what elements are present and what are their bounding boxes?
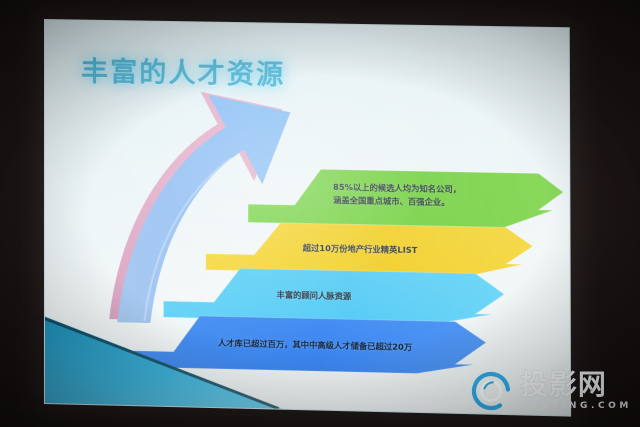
slide-canvas: 丰富的人才资源 [44, 19, 571, 417]
band-yellow-label: 超过10万份地产行业精英LIST [303, 242, 418, 256]
band-yellow-line-1: 超过10万份地产行业精英LIST [303, 242, 418, 256]
corner-accent-triangle [45, 307, 297, 409]
band-green-label: 85%以上的候选人均为知名公司， 涵盖全国重点城市、百强企业。 [333, 181, 461, 210]
band-lightblue-line-1: 丰富的顾问人脉资源 [276, 288, 351, 302]
band-lightblue-label: 丰富的顾问人脉资源 [276, 288, 351, 302]
projected-slide: 丰富的人才资源 [44, 19, 571, 417]
band-green-line-2: 涵盖全国重点城市、百强企业。 [333, 194, 461, 210]
